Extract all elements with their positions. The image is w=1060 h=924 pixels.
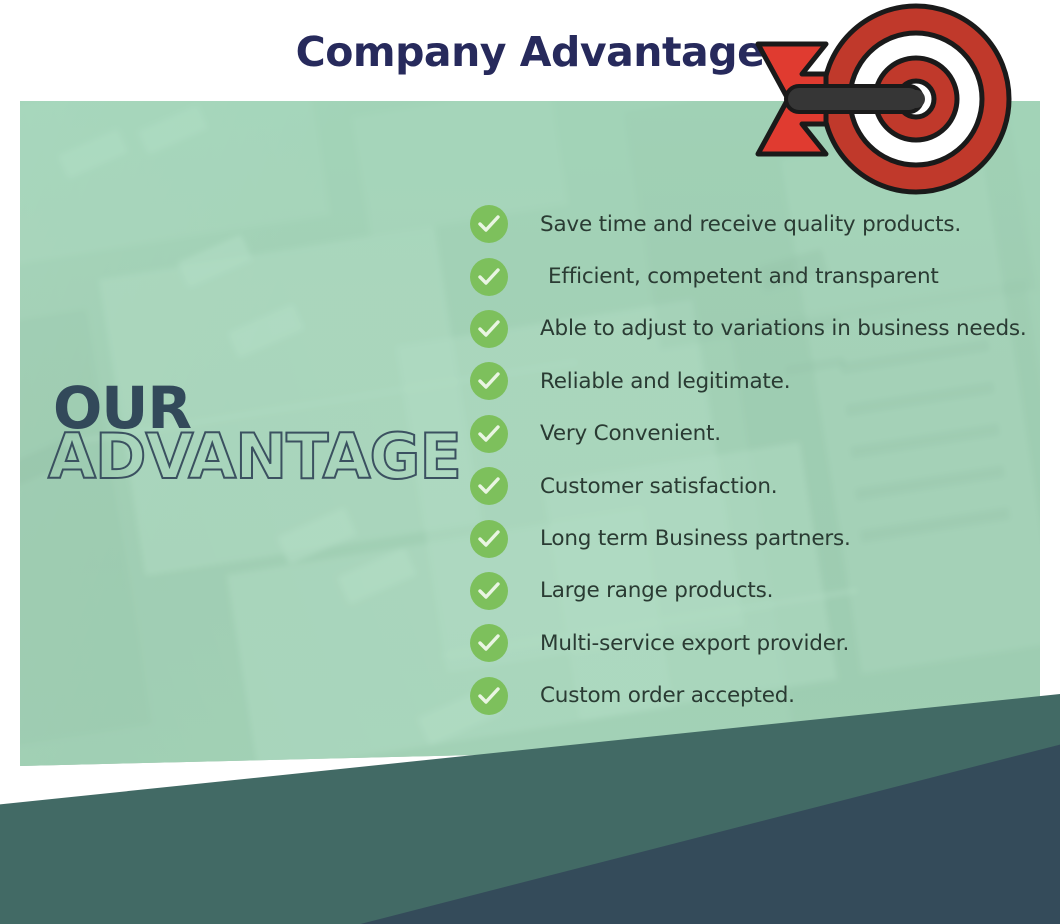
our-advantage-heading: OUR ADVANTAGE	[48, 383, 461, 485]
list-item: Multi-service export provider.	[470, 617, 1027, 669]
list-item-label: Efficient, competent and transparent	[548, 264, 939, 289]
list-item: Efficient, competent and transparent	[470, 250, 1027, 302]
list-item: Save time and receive quality products.	[470, 198, 1027, 250]
advantage-list: Save time and receive quality products. …	[470, 198, 1027, 722]
check-icon	[470, 467, 508, 505]
list-item: Long term Business partners.	[470, 512, 1027, 564]
check-icon	[470, 572, 508, 610]
check-icon	[470, 205, 508, 243]
heading-line-advantage: ADVANTAGE	[48, 430, 461, 485]
target-bullseye-icon	[752, 2, 1020, 197]
check-icon	[470, 258, 508, 296]
check-icon	[470, 310, 508, 348]
list-item-label: Save time and receive quality products.	[540, 212, 961, 237]
list-item: Customer satisfaction.	[470, 460, 1027, 512]
list-item-label: Large range products.	[540, 578, 773, 603]
list-item-label: Very Convenient.	[540, 421, 721, 446]
list-item-label: Customer satisfaction.	[540, 474, 777, 499]
list-item: Very Convenient.	[470, 408, 1027, 460]
slide-canvas: Company Advantage OUR ADVANTAGE Save tim…	[0, 0, 1060, 924]
check-icon	[470, 415, 508, 453]
list-item-label: Able to adjust to variations in business…	[540, 316, 1027, 341]
list-item: Large range products.	[470, 565, 1027, 617]
list-item: Custom order accepted.	[470, 670, 1027, 722]
list-item-label: Custom order accepted.	[540, 683, 795, 708]
list-item-label: Long term Business partners.	[540, 526, 851, 551]
check-icon	[470, 624, 508, 662]
list-item: Reliable and legitimate.	[470, 355, 1027, 407]
list-item-label: Multi-service export provider.	[540, 631, 849, 656]
check-icon	[470, 677, 508, 715]
check-icon	[470, 362, 508, 400]
list-item: Able to adjust to variations in business…	[470, 303, 1027, 355]
check-icon	[470, 520, 508, 558]
list-item-label: Reliable and legitimate.	[540, 369, 790, 394]
